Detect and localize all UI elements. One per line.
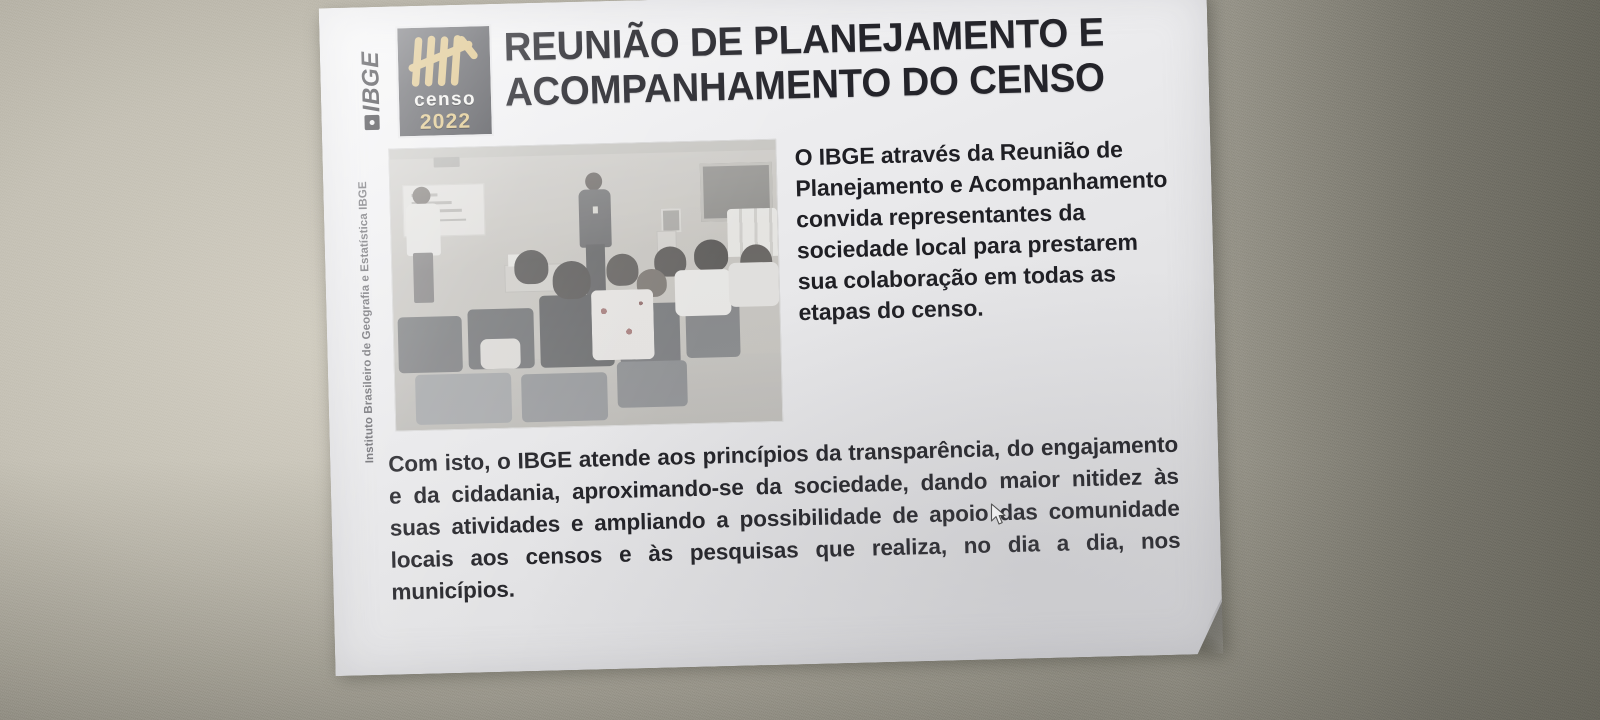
side-paragraph: O IBGE através da Reunião de Planejament… — [794, 129, 1185, 427]
censo-2022-badge: censo 2022 — [395, 24, 494, 138]
sheet-header: censo 2022 REUNIÃO DE PLANEJAMENTO E ACO… — [395, 6, 1198, 144]
ibge-square-mark-icon — [365, 115, 380, 130]
sheet-title: REUNIÃO DE PLANEJAMENTO E ACOMPANHAMENTO… — [503, 6, 1197, 116]
ibge-logo: IBGE — [347, 36, 396, 145]
meeting-photo — [388, 139, 783, 432]
censo-year-label: 2022 — [420, 111, 472, 133]
tally-marks-icon — [405, 33, 482, 89]
sheet-middle-row: O IBGE através da Reunião de Planejament… — [388, 129, 1185, 437]
ibge-wordmark: IBGE — [359, 51, 385, 112]
presenter-left — [404, 186, 443, 302]
body-paragraph: Com isto, o IBGE atende aos princípios d… — [388, 429, 1183, 641]
censo-label: censo — [414, 89, 476, 110]
printed-sheet: IBGE Instituto Brasileiro de Geografia e… — [319, 0, 1224, 676]
ibge-full-name: Instituto Brasileiro de Geografia e Esta… — [357, 163, 377, 463]
screenshot-scene: IBGE Instituto Brasileiro de Geografia e… — [0, 0, 1600, 720]
